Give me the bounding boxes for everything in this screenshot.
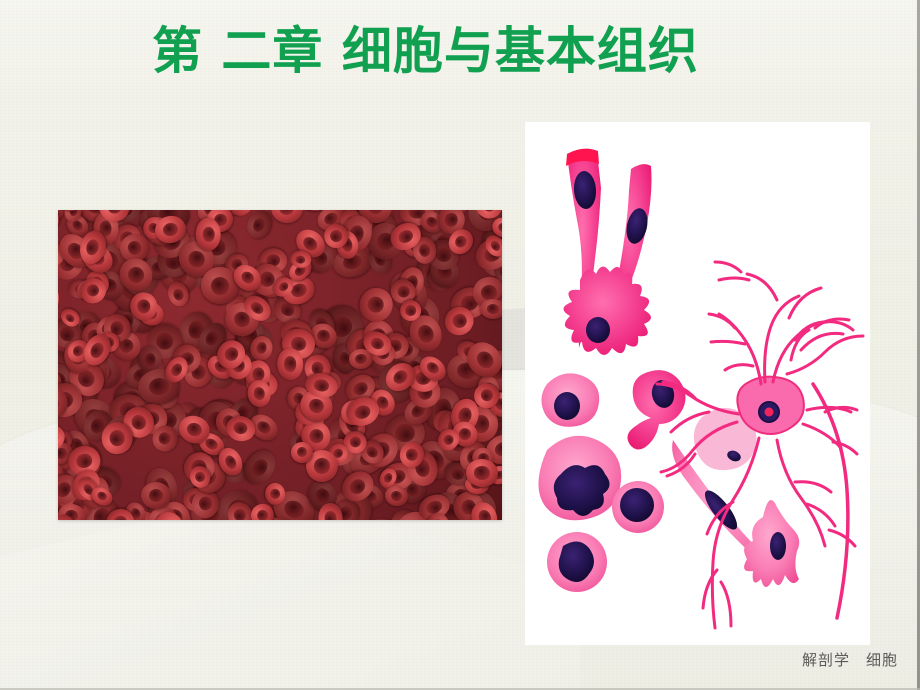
figure-lymphocyte <box>612 481 664 533</box>
red-blood-cell <box>242 210 275 243</box>
figure-squamous-flat-cell <box>541 373 599 426</box>
slide-title: 第 二章 细胞与基本组织 <box>152 22 699 81</box>
red-blood-cell <box>269 210 305 226</box>
slide-footer: 解剖学 细胞 <box>802 649 898 670</box>
red-blood-cell <box>480 299 502 320</box>
red-blood-cells-field <box>58 210 502 520</box>
cell-types-image <box>525 122 870 645</box>
cell-types-illustration <box>525 122 870 645</box>
red-blood-cell <box>58 280 60 316</box>
red-blood-cell <box>102 422 133 454</box>
red-blood-cell <box>196 217 221 250</box>
figure-monocyte <box>547 532 607 592</box>
red-blood-cells-image <box>58 210 502 520</box>
figure-neutrophil-granulocyte <box>538 436 621 521</box>
presentation-slide: 第 二章 细胞与基本组织 <box>0 0 920 690</box>
red-blood-cell <box>276 348 303 381</box>
red-blood-cell <box>400 299 421 320</box>
